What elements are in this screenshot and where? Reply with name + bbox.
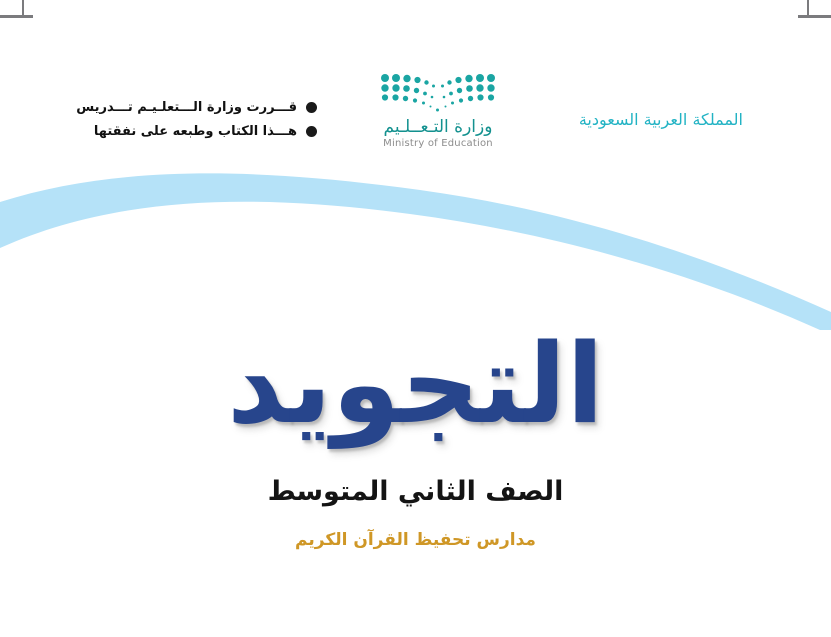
kingdom-label: المملكة العربية السعودية (579, 110, 743, 129)
filled-circle-bullet-icon (306, 102, 317, 113)
page-title: التجويد (0, 320, 831, 450)
ministry-wordmark-english: Ministry of Education (352, 138, 524, 149)
ministry-wordmark-arabic: وزارة التـعــلـيم (352, 118, 524, 137)
filled-circle-bullet-icon (306, 126, 317, 137)
approval-line: قـــررت وزارة الـــتعلـيـم تـــدريس (92, 95, 317, 119)
school-program-label: مدارس تحفيظ القرآن الكريم (0, 530, 831, 550)
decorative-arc-band (0, 150, 831, 330)
cover-title-area: التجويد الصف الثاني المتوسط مدارس تحفيظ … (0, 320, 831, 551)
approval-line: هـــذا الكتاب وطبعه على نفقتها (92, 119, 317, 143)
ministry-logo: وزارة التـعــلـيم Ministry of Education (352, 72, 524, 149)
approval-statement: قـــررت وزارة الـــتعلـيـم تـــدريس هـــ… (92, 95, 317, 143)
saudi-vision-palm-dots-icon (378, 72, 498, 116)
grade-level-label: الصف الثاني المتوسط (0, 476, 831, 508)
approval-line-text: قـــررت وزارة الـــتعلـيـم تـــدريس (76, 101, 297, 114)
cover-header: قـــررت وزارة الـــتعلـيـم تـــدريس هـــ… (0, 0, 831, 165)
textbook-cover: قـــررت وزارة الـــتعلـيـم تـــدريس هـــ… (0, 0, 831, 637)
approval-line-text: هـــذا الكتاب وطبعه على نفقتها (94, 125, 297, 138)
